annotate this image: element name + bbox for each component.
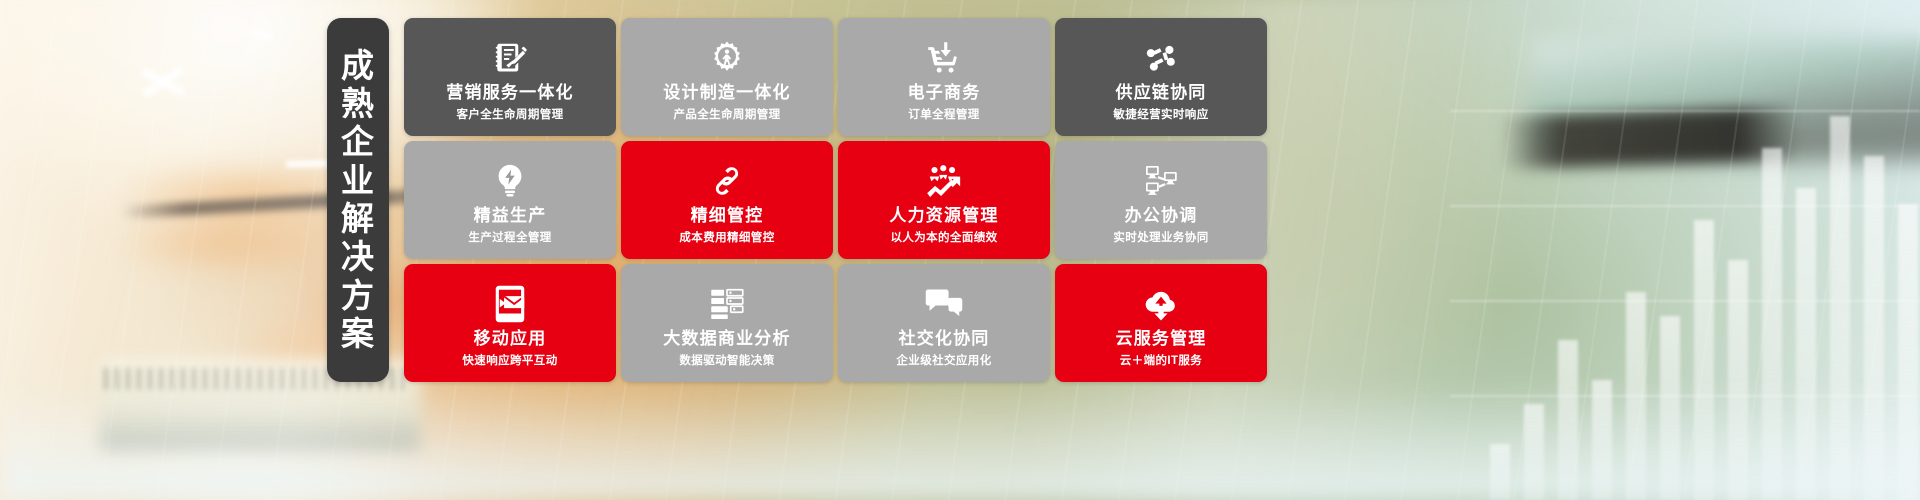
solution-card[interactable]: 精细管控成本费用精细管控	[621, 141, 833, 259]
solution-card[interactable]: 供应链协同敏捷经营实时响应	[1055, 18, 1267, 136]
solution-card-subtitle: 订单全程管理	[908, 108, 979, 122]
solution-card-title: 云服务管理	[1116, 330, 1207, 349]
solution-card[interactable]: 人力资源管理以人为本的全面绩效	[838, 141, 1050, 259]
solution-card-subtitle: 实时处理业务协同	[1113, 231, 1208, 245]
server-rack-icon	[709, 284, 745, 324]
solution-card-title: 精细管控	[691, 207, 764, 226]
solution-card[interactable]: 云服务管理云＋端的IT服务	[1055, 264, 1267, 382]
shopping-cart-download-icon	[926, 38, 962, 78]
gear-person-icon	[709, 38, 745, 78]
people-growth-arrow-icon	[925, 161, 963, 201]
solution-card-subtitle: 客户全生命周期管理	[456, 108, 563, 122]
solution-card-title: 营销服务一体化	[446, 84, 573, 103]
solution-card[interactable]: 营销服务一体化客户全生命周期管理	[404, 18, 616, 136]
solution-card-subtitle: 敏捷经营实时响应	[1113, 108, 1208, 122]
section-title-panel: 成熟企业解决方案	[327, 18, 389, 382]
solution-card-title: 电子商务	[908, 84, 981, 103]
solution-card-title: 供应链协同	[1116, 84, 1207, 103]
solution-card[interactable]: 精益生产生产过程全管理	[404, 141, 616, 259]
cloud-download-icon	[1143, 284, 1179, 324]
solution-card[interactable]: 设计制造一体化产品全生命周期管理	[621, 18, 833, 136]
solution-card-subtitle: 快速响应跨平互动	[462, 354, 557, 368]
solution-card-subtitle: 云＋端的IT服务	[1120, 354, 1202, 368]
solution-card-title: 大数据商业分析	[663, 330, 790, 349]
network-nodes-icon	[1143, 38, 1179, 78]
solution-card[interactable]: 移动应用快速响应跨平互动	[404, 264, 616, 382]
solution-card-subtitle: 生产过程全管理	[468, 231, 551, 245]
solution-card-subtitle: 企业级社交应用化	[896, 354, 991, 368]
lightbulb-bolt-icon	[492, 161, 528, 201]
phone-envelope-icon	[494, 284, 526, 324]
solution-card-title: 移动应用	[474, 330, 547, 349]
banner-content: 成熟企业解决方案 营销服务一体化客户全生命周期管理设计制造一体化产品全生命周期管…	[0, 0, 1920, 500]
solution-card-subtitle: 产品全生命周期管理	[673, 108, 780, 122]
solution-card[interactable]: 大数据商业分析数据驱动智能决策	[621, 264, 833, 382]
solution-card-grid: 营销服务一体化客户全生命周期管理设计制造一体化产品全生命周期管理电子商务订单全程…	[404, 18, 1267, 382]
solution-card-subtitle: 以人为本的全面绩效	[890, 231, 997, 245]
chain-link-icon	[710, 161, 744, 201]
solution-card-title: 社交化协同	[899, 330, 990, 349]
notepad-pencil-icon	[492, 38, 528, 78]
solution-card[interactable]: 电子商务订单全程管理	[838, 18, 1050, 136]
solution-card-title: 设计制造一体化	[663, 84, 790, 103]
chat-bubbles-icon	[925, 284, 963, 324]
section-title-text: 成熟企业解决方案	[338, 47, 378, 353]
solution-card[interactable]: 办公协调实时处理业务协同	[1055, 141, 1267, 259]
solution-card-subtitle: 成本费用精细管控	[679, 231, 774, 245]
solution-card-title: 办公协调	[1125, 207, 1198, 226]
solution-card-title: 精益生产	[474, 207, 547, 226]
solution-card[interactable]: 社交化协同企业级社交应用化	[838, 264, 1050, 382]
solution-card-subtitle: 数据驱动智能决策	[679, 354, 774, 368]
networked-computers-icon	[1143, 161, 1179, 201]
solution-card-title: 人力资源管理	[889, 207, 998, 226]
